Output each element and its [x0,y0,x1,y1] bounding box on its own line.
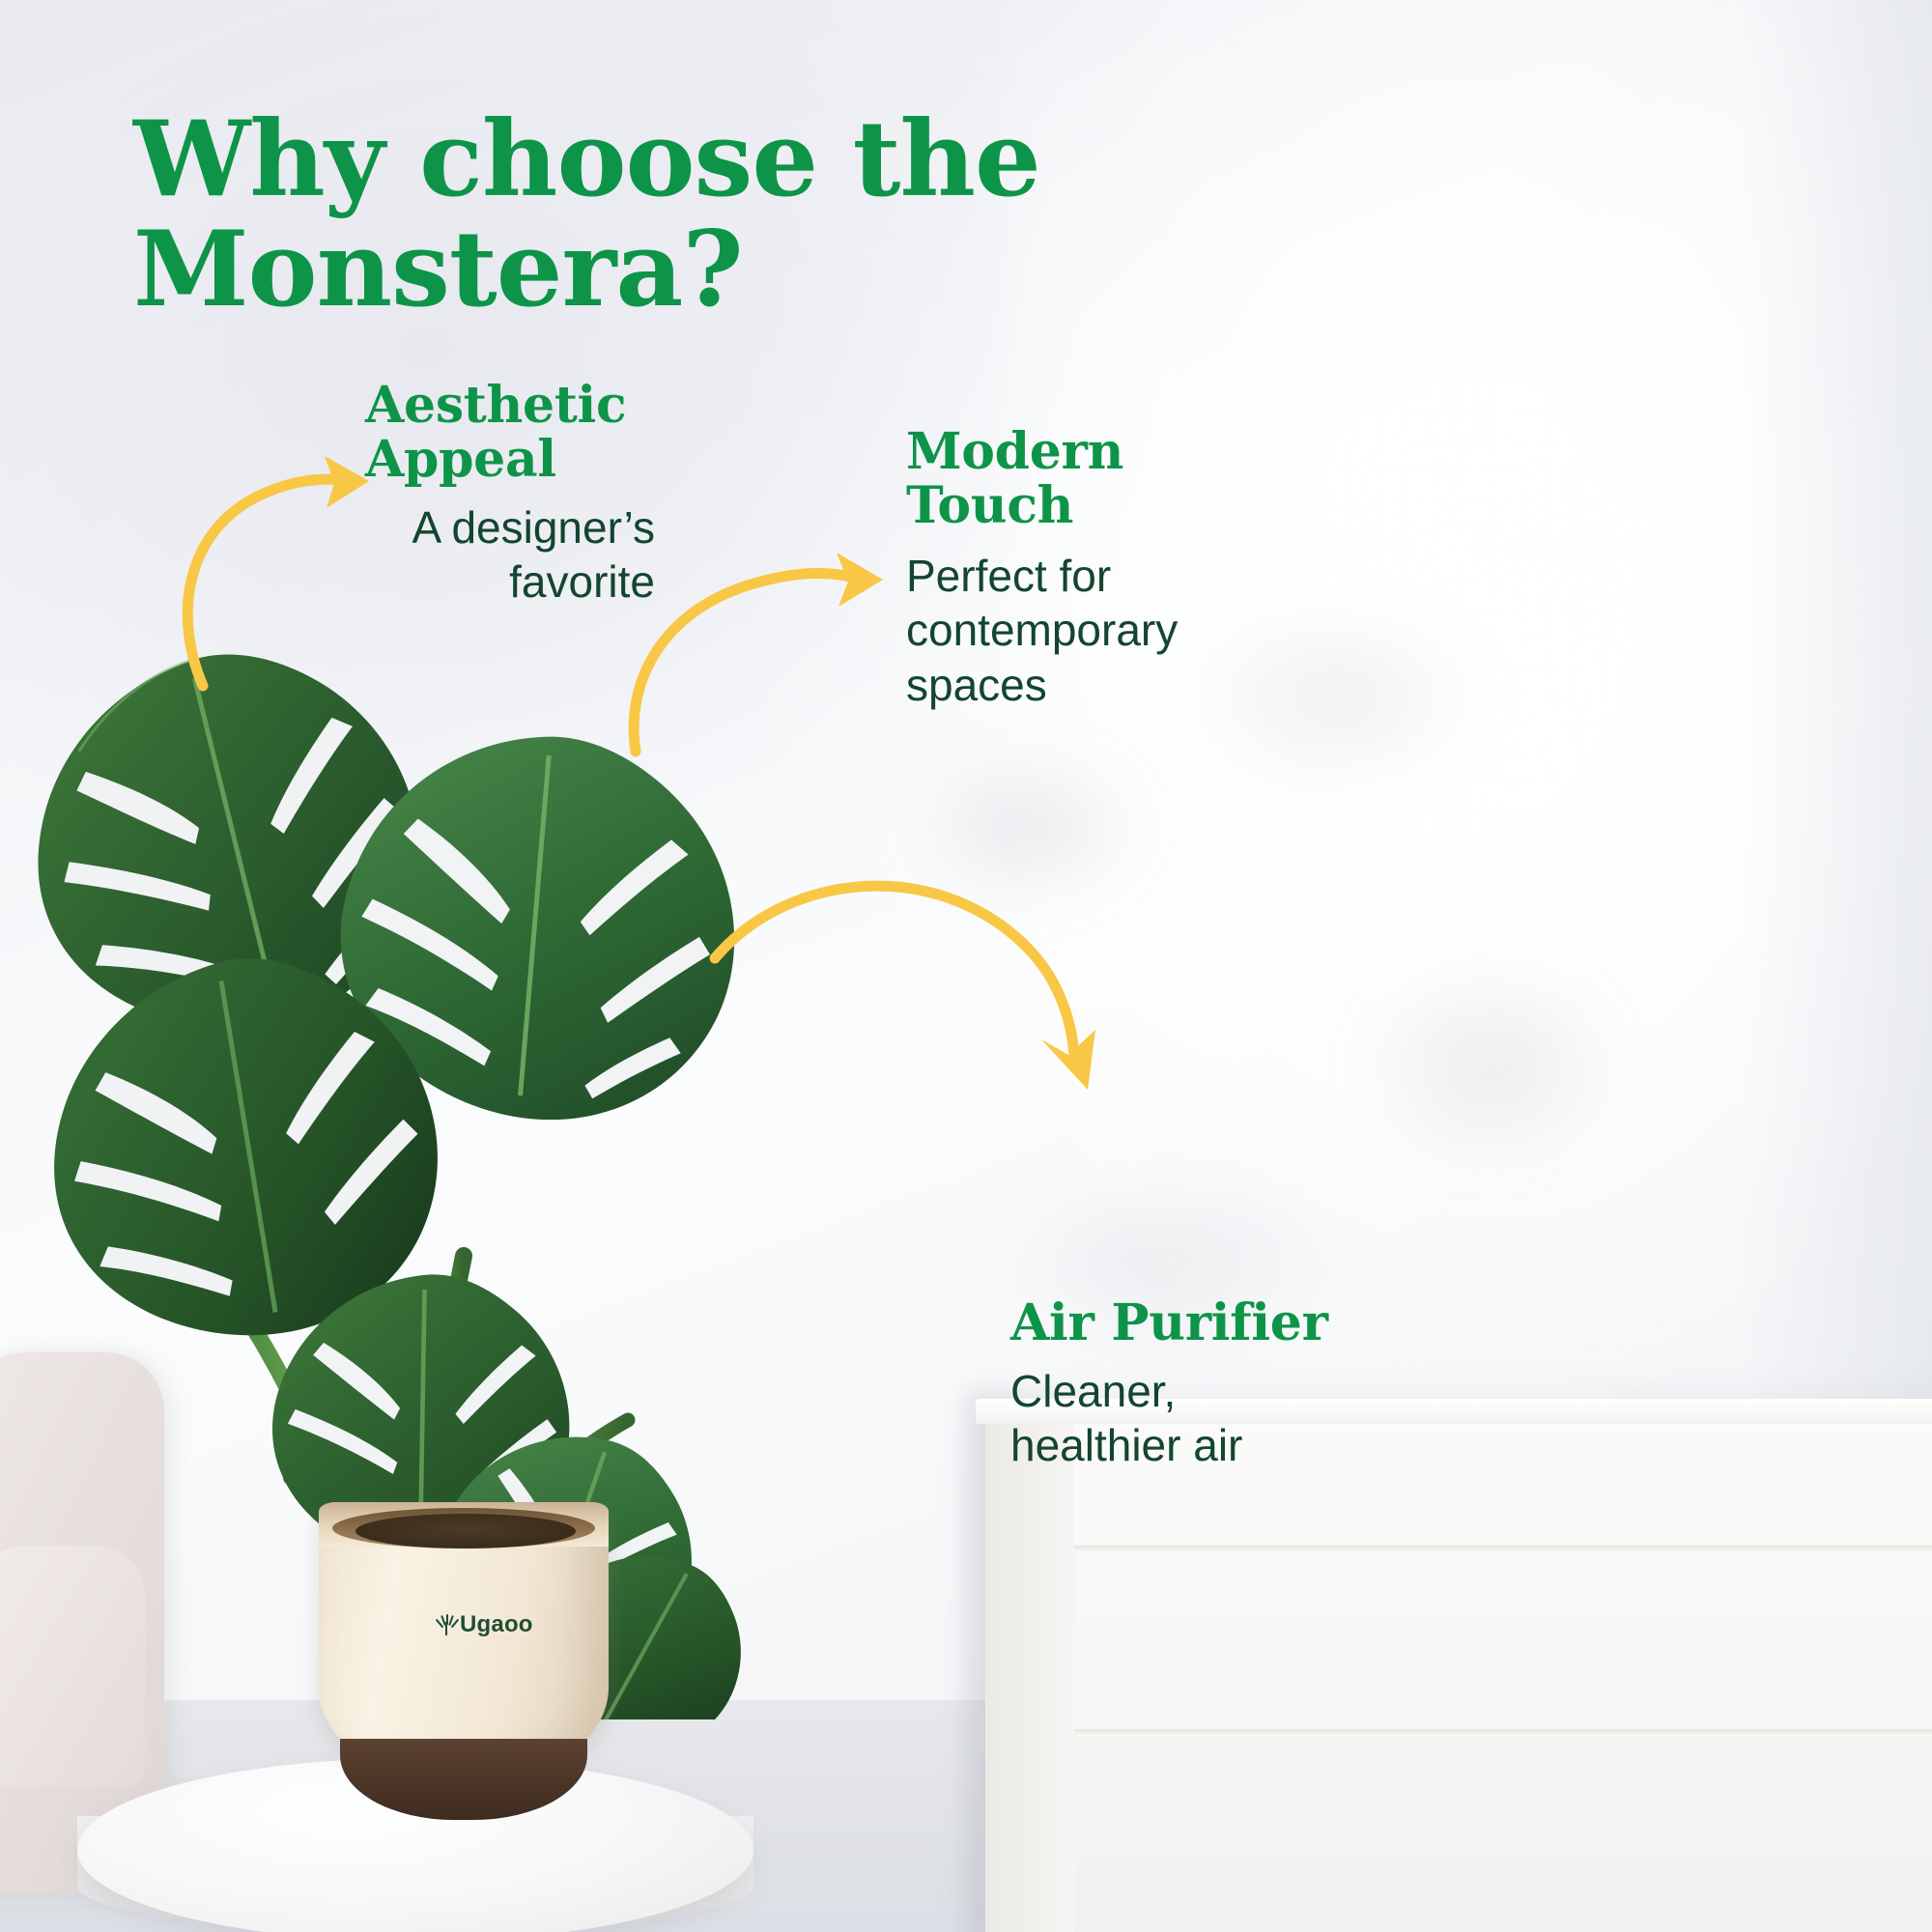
infographic-canvas: Ugaoo Why choose the Monstera? Aesthetic… [0,0,1932,1932]
benefit-title: Modern Touch [906,425,1225,533]
headline-line-2: Monstera? [133,214,1061,325]
dresser-drawer-seam [1074,1729,1932,1736]
headline-line-1: Why choose the [133,104,1061,214]
benefit-title: Air Purifier [1010,1296,1358,1350]
dresser [985,1406,1932,1932]
page-title: Why choose the Monstera? [133,104,1061,326]
brand-name: Ugaoo [460,1611,533,1638]
dresser-side-panel [985,1406,1074,1932]
benefit-air-purifier: Air Purifier Cleaner, healthier air [1010,1296,1358,1472]
benefit-description: Cleaner, healthier air [1010,1364,1358,1472]
benefit-description: Perfect for contemporary spaces [906,549,1225,711]
brand-logo: Ugaoo [437,1611,533,1638]
benefit-aesthetic-appeal: Aesthetic Appeal A designer’s favorite [365,379,655,610]
dresser-drawer-seam [1074,1546,1932,1552]
benefit-modern-touch: Modern Touch Perfect for contemporary sp… [906,425,1225,712]
sprout-icon [437,1614,456,1635]
benefit-description: A designer’s favorite [365,500,655,609]
pot-soil [355,1514,576,1548]
benefit-title: Aesthetic Appeal [365,379,655,487]
